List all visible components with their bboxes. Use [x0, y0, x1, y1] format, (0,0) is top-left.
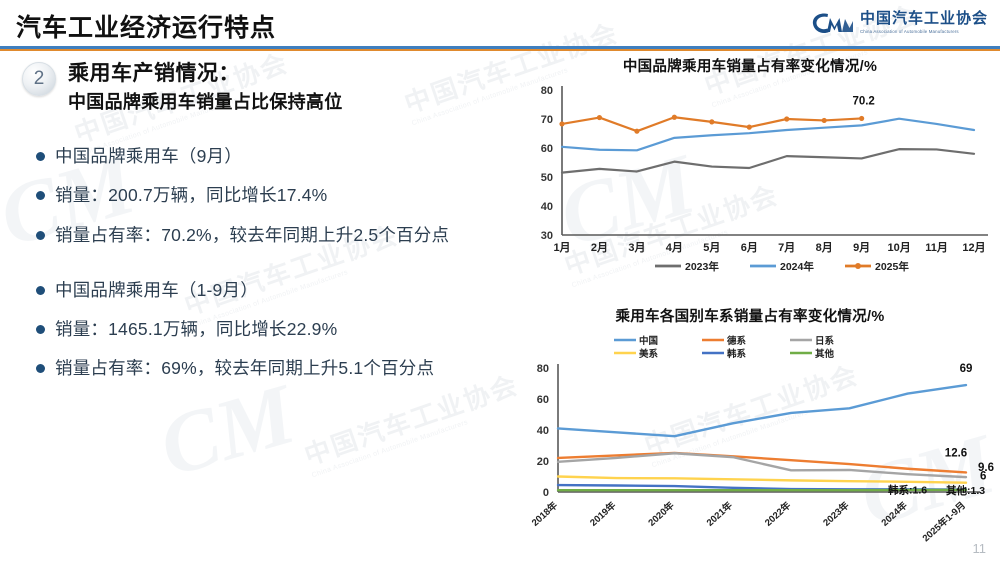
data-point-marker — [859, 116, 864, 121]
legend-label: 德系 — [727, 335, 747, 347]
chart-title: 乘用车各国别车系销量占有率变化情况/% — [500, 305, 1000, 326]
x-axis-tick-label: 2022年 — [762, 499, 793, 529]
data-point-marker — [747, 125, 752, 130]
page-number: 11 — [973, 541, 987, 556]
list-item: 中国品牌乘用车（9月） — [36, 143, 486, 169]
series-line — [558, 453, 966, 477]
data-label: 6 — [980, 471, 986, 483]
chart-brand-share-monthly: 中国品牌乘用车销量占有率变化情况/% 3040506070801月2月3月4月5… — [500, 55, 1000, 295]
y-axis-tick-label: 80 — [541, 85, 553, 97]
series-line — [562, 149, 974, 172]
y-axis-tick-label: 40 — [537, 425, 549, 437]
legend-label: 日系 — [815, 335, 835, 347]
page-title: 汽车工业经济运行特点 — [16, 8, 276, 44]
list-item: 销量占有率：70.2%，较去年同期上升2.5个百分点 — [36, 222, 486, 248]
chart-country-brand-share: 乘用车各国别车系销量占有率变化情况/% 中国德系日系美系韩系其他02040608… — [500, 305, 1000, 555]
bullet-dot-icon — [36, 152, 45, 161]
bullet-dot-icon — [36, 364, 45, 373]
legend-item: 2024年 — [750, 260, 814, 273]
legend-label: 韩系 — [727, 348, 747, 360]
chart-canvas: 中国德系日系美系韩系其他0204060802018年2019年2020年2021… — [500, 326, 1000, 554]
section-title-primary: 乘用车产销情况： — [68, 61, 343, 87]
legend-item: 2023年 — [655, 260, 719, 273]
data-point-marker — [672, 115, 677, 120]
y-axis-tick-label: 80 — [537, 363, 549, 375]
data-point-marker — [559, 121, 564, 126]
section-heading: 2 乘用车产销情况： 中国品牌乘用车销量占比保持高位 — [22, 61, 343, 115]
y-axis-tick-label: 30 — [541, 230, 553, 242]
x-axis-tick-label: 2021年 — [704, 499, 735, 529]
legend-item: 2025年 — [845, 260, 909, 273]
content-left-column: 2 乘用车产销情况： 中国品牌乘用车销量占比保持高位 中国品牌乘用车（9月） 销… — [0, 55, 500, 555]
legend-label: 其他 — [815, 348, 835, 360]
header-rule-orange — [0, 49, 1000, 51]
page-header: 汽车工业经济运行特点 中国汽车工业协会 China Association of… — [0, 0, 1000, 48]
legend-item: 韩系 — [702, 348, 747, 360]
legend-label: 美系 — [638, 348, 659, 360]
chart-canvas: 3040506070801月2月3月4月5月6月7月8月9月10月11月12月7… — [500, 76, 1000, 291]
data-label: 69 — [960, 363, 973, 375]
logo-text-en: China Association of Automobile Manufact… — [860, 29, 988, 34]
list-item: 销量：1465.1万辆，同比增长22.9% — [36, 316, 486, 342]
list-item-label: 销量占有率：69%，较去年同期上升5.1个百分点 — [55, 355, 434, 381]
list-item-label: 销量占有率：70.2%，较去年同期上升2.5个百分点 — [55, 222, 449, 248]
x-axis-tick-label: 2019年 — [587, 499, 618, 529]
x-axis-tick-label: 2020年 — [646, 499, 677, 529]
bullet-dot-icon — [36, 325, 45, 334]
x-axis-tick-label: 8月 — [816, 241, 833, 254]
x-axis-tick-label: 4月 — [666, 241, 683, 254]
legend-label: 2023年 — [685, 260, 719, 273]
organization-logo: 中国汽车工业协会 China Association of Automobile… — [811, 10, 988, 36]
series-line — [558, 477, 966, 483]
cm-monogram-icon — [811, 10, 853, 36]
legend-item: 中国 — [614, 335, 658, 347]
bullet-dot-icon — [36, 286, 45, 295]
y-axis-tick-label: 20 — [537, 456, 549, 468]
x-axis-tick-label: 2月 — [591, 241, 608, 254]
data-point-marker — [634, 129, 639, 134]
series-line — [558, 385, 966, 436]
data-point-marker — [784, 116, 789, 121]
legend-item: 日系 — [790, 335, 835, 347]
x-axis-tick-label: 12月 — [962, 241, 985, 254]
legend-label: 中国 — [639, 335, 658, 347]
y-axis-tick-label: 40 — [541, 201, 553, 213]
legend-item: 其他 — [790, 348, 835, 360]
x-axis-tick-label: 1月 — [553, 241, 570, 254]
bullet-list: 中国品牌乘用车（9月） 销量：200.7万辆，同比增长17.4% 销量占有率：7… — [36, 143, 486, 395]
list-item-label: 中国品牌乘用车（9月） — [55, 143, 242, 169]
list-item: 中国品牌乘用车（1-9月） — [36, 277, 486, 303]
data-label: 其他:1.3 — [946, 484, 985, 497]
list-item: 销量占有率：69%，较去年同期上升5.1个百分点 — [36, 355, 486, 381]
list-item-label: 销量：200.7万辆，同比增长17.4% — [55, 182, 327, 208]
y-axis-tick-label: 50 — [541, 172, 553, 184]
x-axis-tick-label: 11月 — [925, 241, 948, 254]
y-axis-tick-label: 70 — [541, 114, 553, 126]
y-axis-tick-label: 0 — [543, 487, 549, 499]
bullet-dot-icon — [36, 231, 45, 240]
y-axis-tick-label: 60 — [537, 394, 549, 406]
logo-text-cn: 中国汽车工业协会 — [860, 11, 988, 27]
legend-label: 2024年 — [780, 260, 814, 273]
bullet-dot-icon — [36, 191, 45, 200]
x-axis-tick-label: 2025年1-9月 — [920, 499, 968, 544]
legend-item: 德系 — [702, 335, 747, 347]
list-item: 销量：200.7万辆，同比增长17.4% — [36, 182, 486, 208]
list-spacer — [36, 261, 486, 277]
data-point-marker — [597, 115, 602, 120]
x-axis-tick-label: 3月 — [628, 241, 645, 254]
section-number-badge: 2 — [22, 62, 56, 96]
x-axis-tick-label: 2023年 — [821, 499, 852, 529]
legend-label: 2025年 — [875, 260, 909, 273]
x-axis-tick-label: 6月 — [741, 241, 758, 254]
section-title-secondary: 中国品牌乘用车销量占比保持高位 — [68, 90, 343, 114]
x-axis-tick-label: 7月 — [778, 241, 795, 254]
x-axis-tick-label: 2024年 — [879, 499, 910, 529]
chart-title: 中国品牌乘用车销量占有率变化情况/% — [500, 55, 1000, 76]
x-axis-tick-label: 5月 — [703, 241, 720, 254]
y-axis-tick-label: 60 — [541, 143, 553, 155]
x-axis-tick-label: 10月 — [887, 241, 910, 254]
data-point-marker — [709, 119, 714, 124]
data-point-marker — [822, 118, 827, 123]
data-label: 70.2 — [852, 95, 874, 107]
legend-item: 美系 — [614, 348, 659, 360]
data-label: 12.6 — [945, 447, 967, 459]
x-axis-tick-label: 9月 — [853, 241, 870, 254]
data-label: 韩系:1.6 — [888, 484, 927, 497]
x-axis-tick-label: 2018年 — [529, 499, 560, 529]
list-item-label: 销量：1465.1万辆，同比增长22.9% — [55, 316, 337, 342]
list-item-label: 中国品牌乘用车（1-9月） — [55, 277, 258, 303]
